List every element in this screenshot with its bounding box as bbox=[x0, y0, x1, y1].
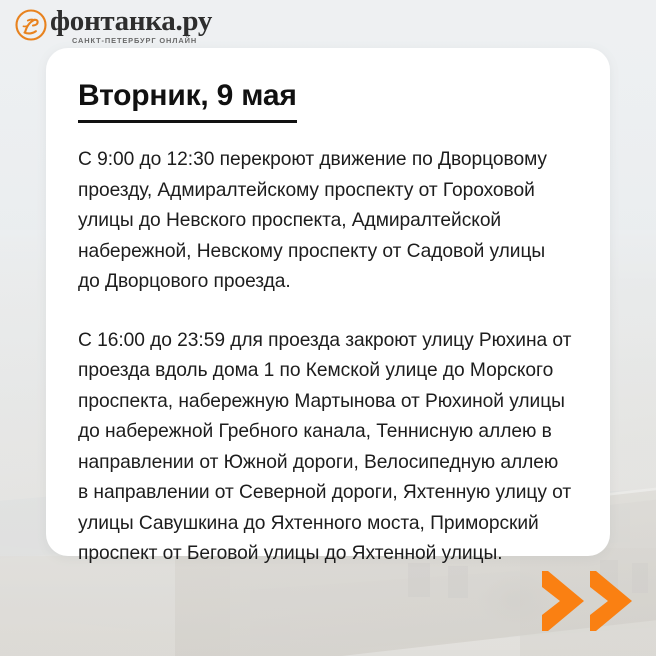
brand-logo[interactable]: фонтанка.ру САНКТ-ПЕТЕРБУРГ ОНЛАЙН bbox=[14, 6, 212, 48]
paragraph-evening-closures: С 16:00 до 23:59 для проезда закроют ули… bbox=[78, 326, 572, 570]
card-body: С 9:00 до 12:30 перекроют движение по Дв… bbox=[78, 123, 572, 570]
brand-name: фонтанка.ру bbox=[50, 6, 212, 36]
paragraph-morning-closures: С 9:00 до 12:30 перекроют движение по Дв… bbox=[78, 145, 572, 298]
double-chevron-right-icon bbox=[538, 568, 638, 634]
brand-text-block: фонтанка.ру САНКТ-ПЕТЕРБУРГ ОНЛАЙН bbox=[50, 6, 212, 45]
content-card: Вторник, 9 мая С 9:00 до 12:30 перекроют… bbox=[46, 48, 610, 556]
brand-tagline: САНКТ-ПЕТЕРБУРГ ОНЛАЙН bbox=[72, 36, 212, 45]
next-slide-button[interactable] bbox=[538, 568, 638, 634]
page-title: Вторник, 9 мая bbox=[78, 78, 297, 123]
fontanka-swan-icon bbox=[14, 8, 48, 42]
post-card-canvas: фонтанка.ру САНКТ-ПЕТЕРБУРГ ОНЛАЙН Вторн… bbox=[0, 0, 656, 656]
